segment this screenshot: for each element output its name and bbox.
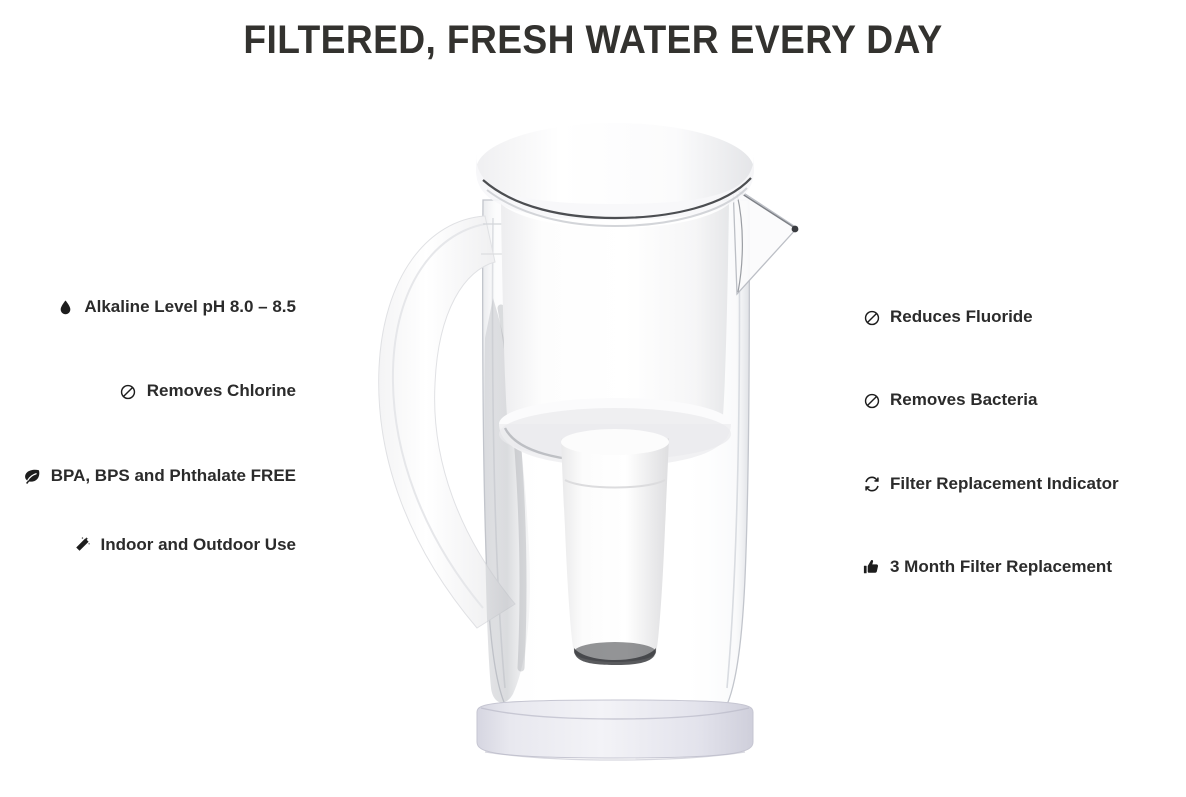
feature-item-reduces-fluoride: Reduces Fluoride [862,306,1186,327]
feature-label: Removes Bacteria [890,389,1037,410]
feature-label: Reduces Fluoride [890,306,1033,327]
product-image-water-filter-pitcher [365,108,830,768]
feature-item-filter-indicator: Filter Replacement Indicator [862,473,1186,494]
feature-label: Filter Replacement Indicator [890,473,1119,494]
magic-wand-icon [73,536,92,555]
feature-item-removes-bacteria: Removes Bacteria [862,389,1186,410]
ban-icon [862,391,881,410]
pitcher-lid [476,123,754,226]
ban-icon [119,382,138,401]
feature-label: Alkaline Level pH 8.0 – 8.5 [84,296,296,317]
feature-list-right: Reduces Fluoride Removes Bacteria Filter… [862,306,1186,577]
ban-icon [862,308,881,327]
pitcher-base [477,700,753,760]
feature-item-indoor-outdoor: Indoor and Outdoor Use [0,534,296,555]
feature-item-3-month-replacement: 3 Month Filter Replacement [862,556,1186,577]
feature-label: BPA, BPS and Phthalate FREE [51,465,296,486]
feature-label: Removes Chlorine [147,380,296,401]
thumbs-up-icon [862,558,881,577]
feature-label: Indoor and Outdoor Use [101,534,297,555]
feature-item-bpa-free: BPA, BPS and Phthalate FREE [0,465,296,486]
pitcher-spout [733,186,798,294]
filter-cartridge [561,429,669,665]
page-title: FILTERED, FRESH WATER EVERY DAY [42,18,1145,63]
water-drop-icon [56,298,75,317]
leaf-icon [23,467,42,486]
feature-list-left: Alkaline Level pH 8.0 – 8.5 Removes Chlo… [0,296,296,555]
feature-item-alkaline-level: Alkaline Level pH 8.0 – 8.5 [0,296,296,317]
feature-label: 3 Month Filter Replacement [890,556,1112,577]
feature-item-removes-chlorine: Removes Chlorine [0,380,296,401]
sync-icon [862,475,881,494]
filter-reservoir [499,204,731,466]
